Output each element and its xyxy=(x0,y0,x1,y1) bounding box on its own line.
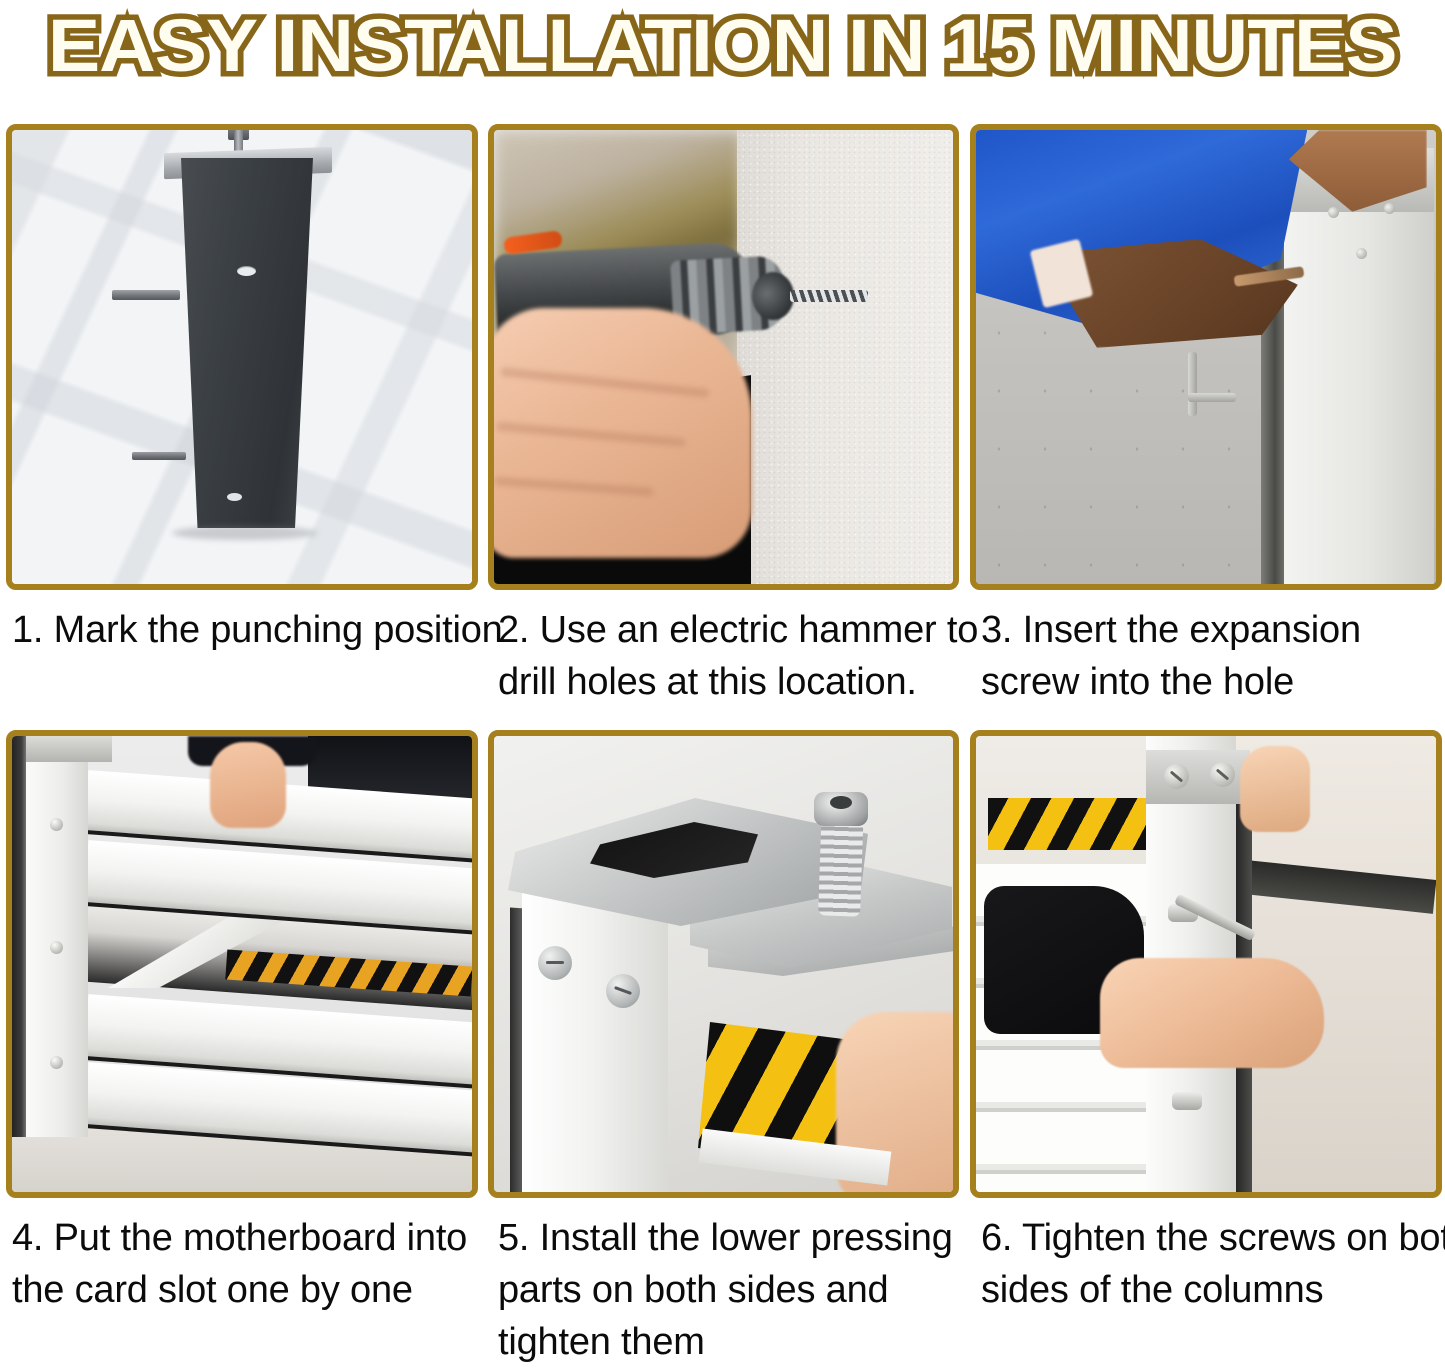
column-screw-c xyxy=(50,1056,63,1069)
photo-scene-panel-insert xyxy=(12,736,472,1192)
marking-hole-lower xyxy=(227,493,242,501)
caption-line: parts on both sides and xyxy=(498,1264,963,1316)
allen-key-shaft xyxy=(1188,352,1197,416)
caption-line: 3. Insert the expansion xyxy=(981,604,1443,656)
step-photo-3 xyxy=(970,124,1442,590)
steps-row-bottom xyxy=(0,730,1445,1198)
step-cell-5 xyxy=(484,730,965,1198)
caption-cell-4: 4. Put the motherboard into the card slo… xyxy=(0,1198,484,1368)
caption-line: 2. Use an electric hammer to xyxy=(498,604,963,656)
step-caption-6: 6. Tighten the screws on both sides of t… xyxy=(977,1198,1445,1316)
step-cell-6 xyxy=(965,730,1445,1198)
photo-scene-tighten-screws xyxy=(976,736,1436,1192)
caption-line: 5. Install the lower pressing xyxy=(498,1212,963,1264)
photo-scene-pressing-part xyxy=(494,736,953,1192)
caption-line: sides of the columns xyxy=(981,1264,1443,1316)
caption-cell-5: 5. Install the lower pressing parts on b… xyxy=(484,1198,965,1368)
caption-cell-1: 1. Mark the punching position xyxy=(0,590,484,708)
caption-line: 4. Put the motherboard into xyxy=(12,1212,482,1264)
page-title: EASY INSTALLATION IN 15 MINUTES xyxy=(48,8,1397,88)
step-caption-3: 3. Insert the expansion screw into the h… xyxy=(977,590,1445,708)
wall-texture xyxy=(737,130,953,584)
white-column-post xyxy=(522,881,668,1198)
hand-tightening xyxy=(1100,958,1324,1068)
step-cell-3 xyxy=(965,124,1445,590)
phillips-screw-a xyxy=(1164,764,1189,789)
captions-row-top: 1. Mark the punching position 2. Use an … xyxy=(0,590,1445,708)
column-screw-c xyxy=(1356,248,1367,259)
caption-line: drill holes at this location. xyxy=(498,656,963,708)
drill-bit xyxy=(790,290,868,302)
photo-scene-expansion-screw xyxy=(976,130,1436,584)
bolt-hex-socket xyxy=(830,796,852,809)
post-shadow xyxy=(172,526,317,540)
phillips-screw-b xyxy=(606,974,640,1008)
step-cell-4 xyxy=(0,730,484,1198)
step-photo-2 xyxy=(488,124,959,590)
caption-cell-3: 3. Insert the expansion screw into the h… xyxy=(965,590,1445,708)
photo-scene-drilling xyxy=(494,130,953,584)
step-caption-1: 1. Mark the punching position xyxy=(8,590,484,656)
hazard-stripe-tape xyxy=(988,798,1148,850)
step-photo-1 xyxy=(6,124,478,590)
steps-row-top xyxy=(0,124,1445,590)
white-column-post xyxy=(1282,148,1434,584)
column-screw-a xyxy=(50,818,63,831)
caption-line: the card slot one by one xyxy=(12,1264,482,1316)
column-screw-b xyxy=(50,941,63,954)
step-photo-5 xyxy=(488,730,959,1198)
caption-line: tighten them xyxy=(498,1316,963,1368)
phillips-screw-b xyxy=(1210,762,1235,787)
bolt-pin-lower xyxy=(132,452,186,460)
column-screw-b xyxy=(1384,203,1395,214)
step-caption-4: 4. Put the motherboard into the card slo… xyxy=(8,1198,484,1316)
step-caption-2: 2. Use an electric hammer to drill holes… xyxy=(494,590,965,708)
captions-row-bottom: 4. Put the motherboard into the card slo… xyxy=(0,1198,1445,1368)
title-bar: EASY INSTALLATION IN 15 MINUTES xyxy=(0,0,1445,96)
step-cell-2 xyxy=(484,124,965,590)
steps-grid: 1. Mark the punching position 2. Use an … xyxy=(0,124,1445,1368)
caption-cell-6: 6. Tighten the screws on both sides of t… xyxy=(965,1198,1445,1368)
caption-line: 6. Tighten the screws on both xyxy=(981,1212,1443,1264)
step-caption-5: 5. Install the lower pressing parts on b… xyxy=(494,1198,965,1368)
step-cell-1 xyxy=(0,124,484,590)
drill-chuck-nose xyxy=(752,272,794,320)
hand-holding-column xyxy=(1240,746,1310,832)
marking-hole-upper xyxy=(237,266,256,276)
photo-scene-marking xyxy=(12,130,472,584)
caption-line: screw into the hole xyxy=(981,656,1443,708)
step-photo-4 xyxy=(6,730,478,1198)
step-photo-6 xyxy=(970,730,1442,1198)
phillips-screw-a xyxy=(538,946,572,980)
column-top-plate xyxy=(26,736,112,762)
caption-line: 1. Mark the punching position xyxy=(12,604,482,656)
hand-placing-panel xyxy=(210,742,286,828)
side-bolt-lower xyxy=(1172,1092,1202,1110)
caption-cell-2: 2. Use an electric hammer to drill holes… xyxy=(484,590,965,708)
allen-key-head xyxy=(1188,393,1236,402)
bolt-pin-upper xyxy=(112,290,180,300)
white-column-post xyxy=(26,736,88,1137)
